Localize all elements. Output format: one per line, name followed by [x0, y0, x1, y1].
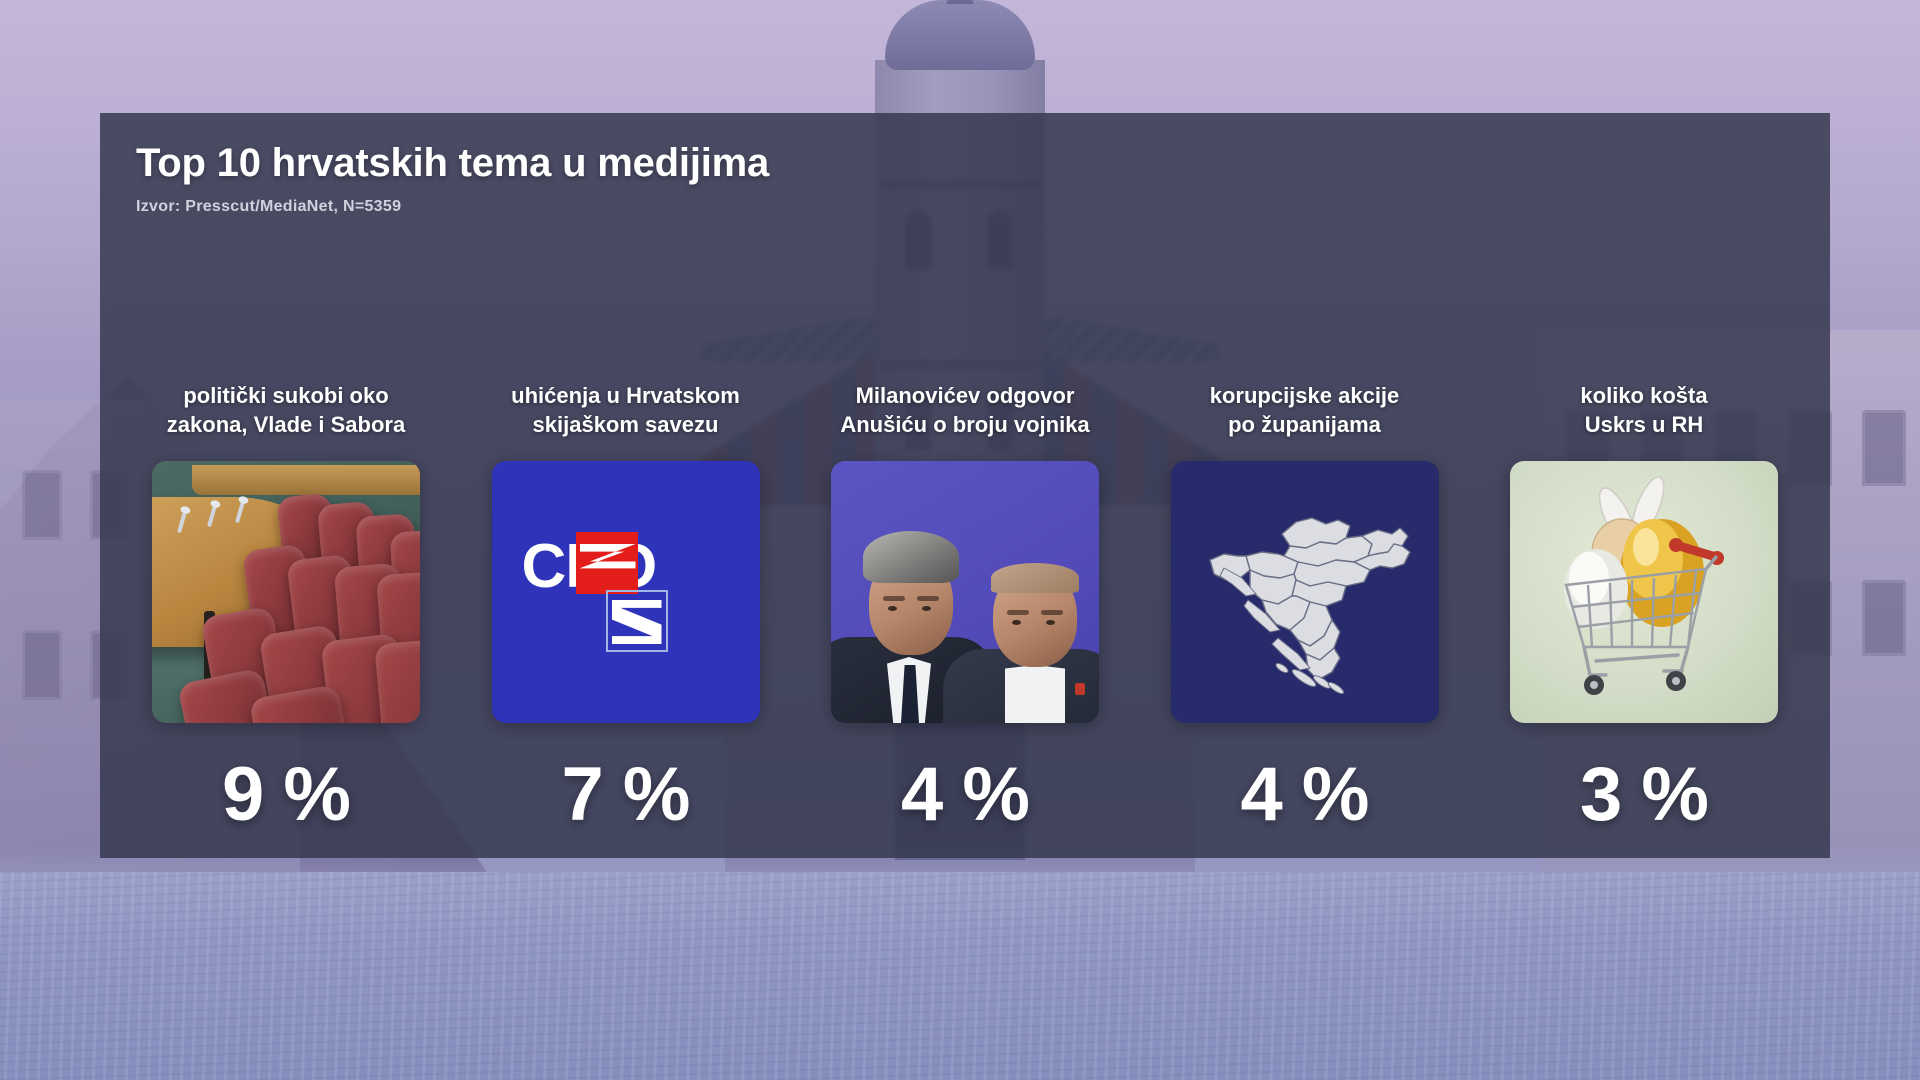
panel-header: Top 10 hrvatskih tema u medijima Izvor: … [100, 113, 1830, 216]
shopping-cart-with-eggs-icon [1510, 461, 1762, 709]
topic-label-5: koliko košta Uskrs u RH [1580, 381, 1707, 443]
croatia-map-icon [1186, 482, 1424, 702]
topic-value-3: 4 % [901, 757, 1029, 833]
topic-column-2[interactable]: uhićenja u Hrvatskom skijaškom savezu CR… [468, 381, 784, 833]
topic-column-5[interactable]: koliko košta Uskrs u RH [1486, 381, 1802, 833]
topic-column-4[interactable]: korupcijske akcije po županijama [1147, 381, 1463, 833]
window [22, 470, 62, 540]
topic-label-5-line2: Uskrs u RH [1580, 410, 1707, 439]
croatia-counties-map[interactable] [1171, 461, 1439, 723]
topic-column-3[interactable]: Milanovićev odgovor Anušiću o broju vojn… [807, 381, 1123, 833]
parliament-seat [374, 638, 420, 723]
topic-label-5-line1: koliko košta [1580, 381, 1707, 410]
topic-value-4: 4 % [1241, 757, 1369, 833]
topic-label-4: korupcijske akcije po županijama [1210, 381, 1400, 443]
topic-label-1: politički sukobi oko zakona, Vlade i Sab… [167, 381, 405, 443]
topic-label-2: uhićenja u Hrvatskom skijaškom savezu [511, 381, 740, 443]
easter-eggs-shopping-cart[interactable] [1510, 461, 1778, 723]
window [1862, 580, 1906, 656]
infographic-panel: Top 10 hrvatskih tema u medijima Izvor: … [100, 113, 1830, 858]
croski-logo[interactable]: CRO SKI [492, 461, 760, 723]
parliament-chamber-photo[interactable] [152, 461, 420, 723]
window [1862, 410, 1906, 486]
topic-value-5: 3 % [1580, 757, 1708, 833]
topic-column-1[interactable]: politički sukobi oko zakona, Vlade i Sab… [128, 381, 444, 833]
topic-label-4-line1: korupcijske akcije [1210, 381, 1400, 410]
tower-dome [885, 0, 1035, 70]
topic-label-2-line2: skijaškom savezu [511, 410, 740, 439]
milanovic-anusic-portraits[interactable] [831, 461, 1099, 723]
page-title: Top 10 hrvatskih tema u medijima [136, 141, 1830, 186]
croski-mark: CRO SKI [526, 532, 726, 652]
topic-label-3-line2: Anušiću o broju vojnika [840, 410, 1089, 439]
tower-spire [946, 0, 974, 4]
portrait-right [949, 517, 1099, 723]
source-note: Izvor: Presscut/MediaNet, N=5359 [136, 198, 1830, 216]
window [22, 630, 62, 700]
topics-row: politički sukobi oko zakona, Vlade i Sab… [100, 381, 1830, 833]
topic-label-3-line1: Milanovićev odgovor [840, 381, 1089, 410]
croski-ski-text: SKI [634, 584, 734, 646]
topic-label-1-line1: politički sukobi oko [167, 381, 405, 410]
topic-value-2: 7 % [562, 757, 690, 833]
topic-label-4-line2: po županijama [1210, 410, 1400, 439]
topic-label-1-line2: zakona, Vlade i Sabora [167, 410, 405, 439]
topic-value-1: 9 % [222, 757, 350, 833]
topic-label-2-line1: uhićenja u Hrvatskom [511, 381, 740, 410]
cobblestone-square [0, 872, 1920, 1080]
topic-label-3: Milanovićev odgovor Anušiću o broju vojn… [840, 381, 1089, 443]
